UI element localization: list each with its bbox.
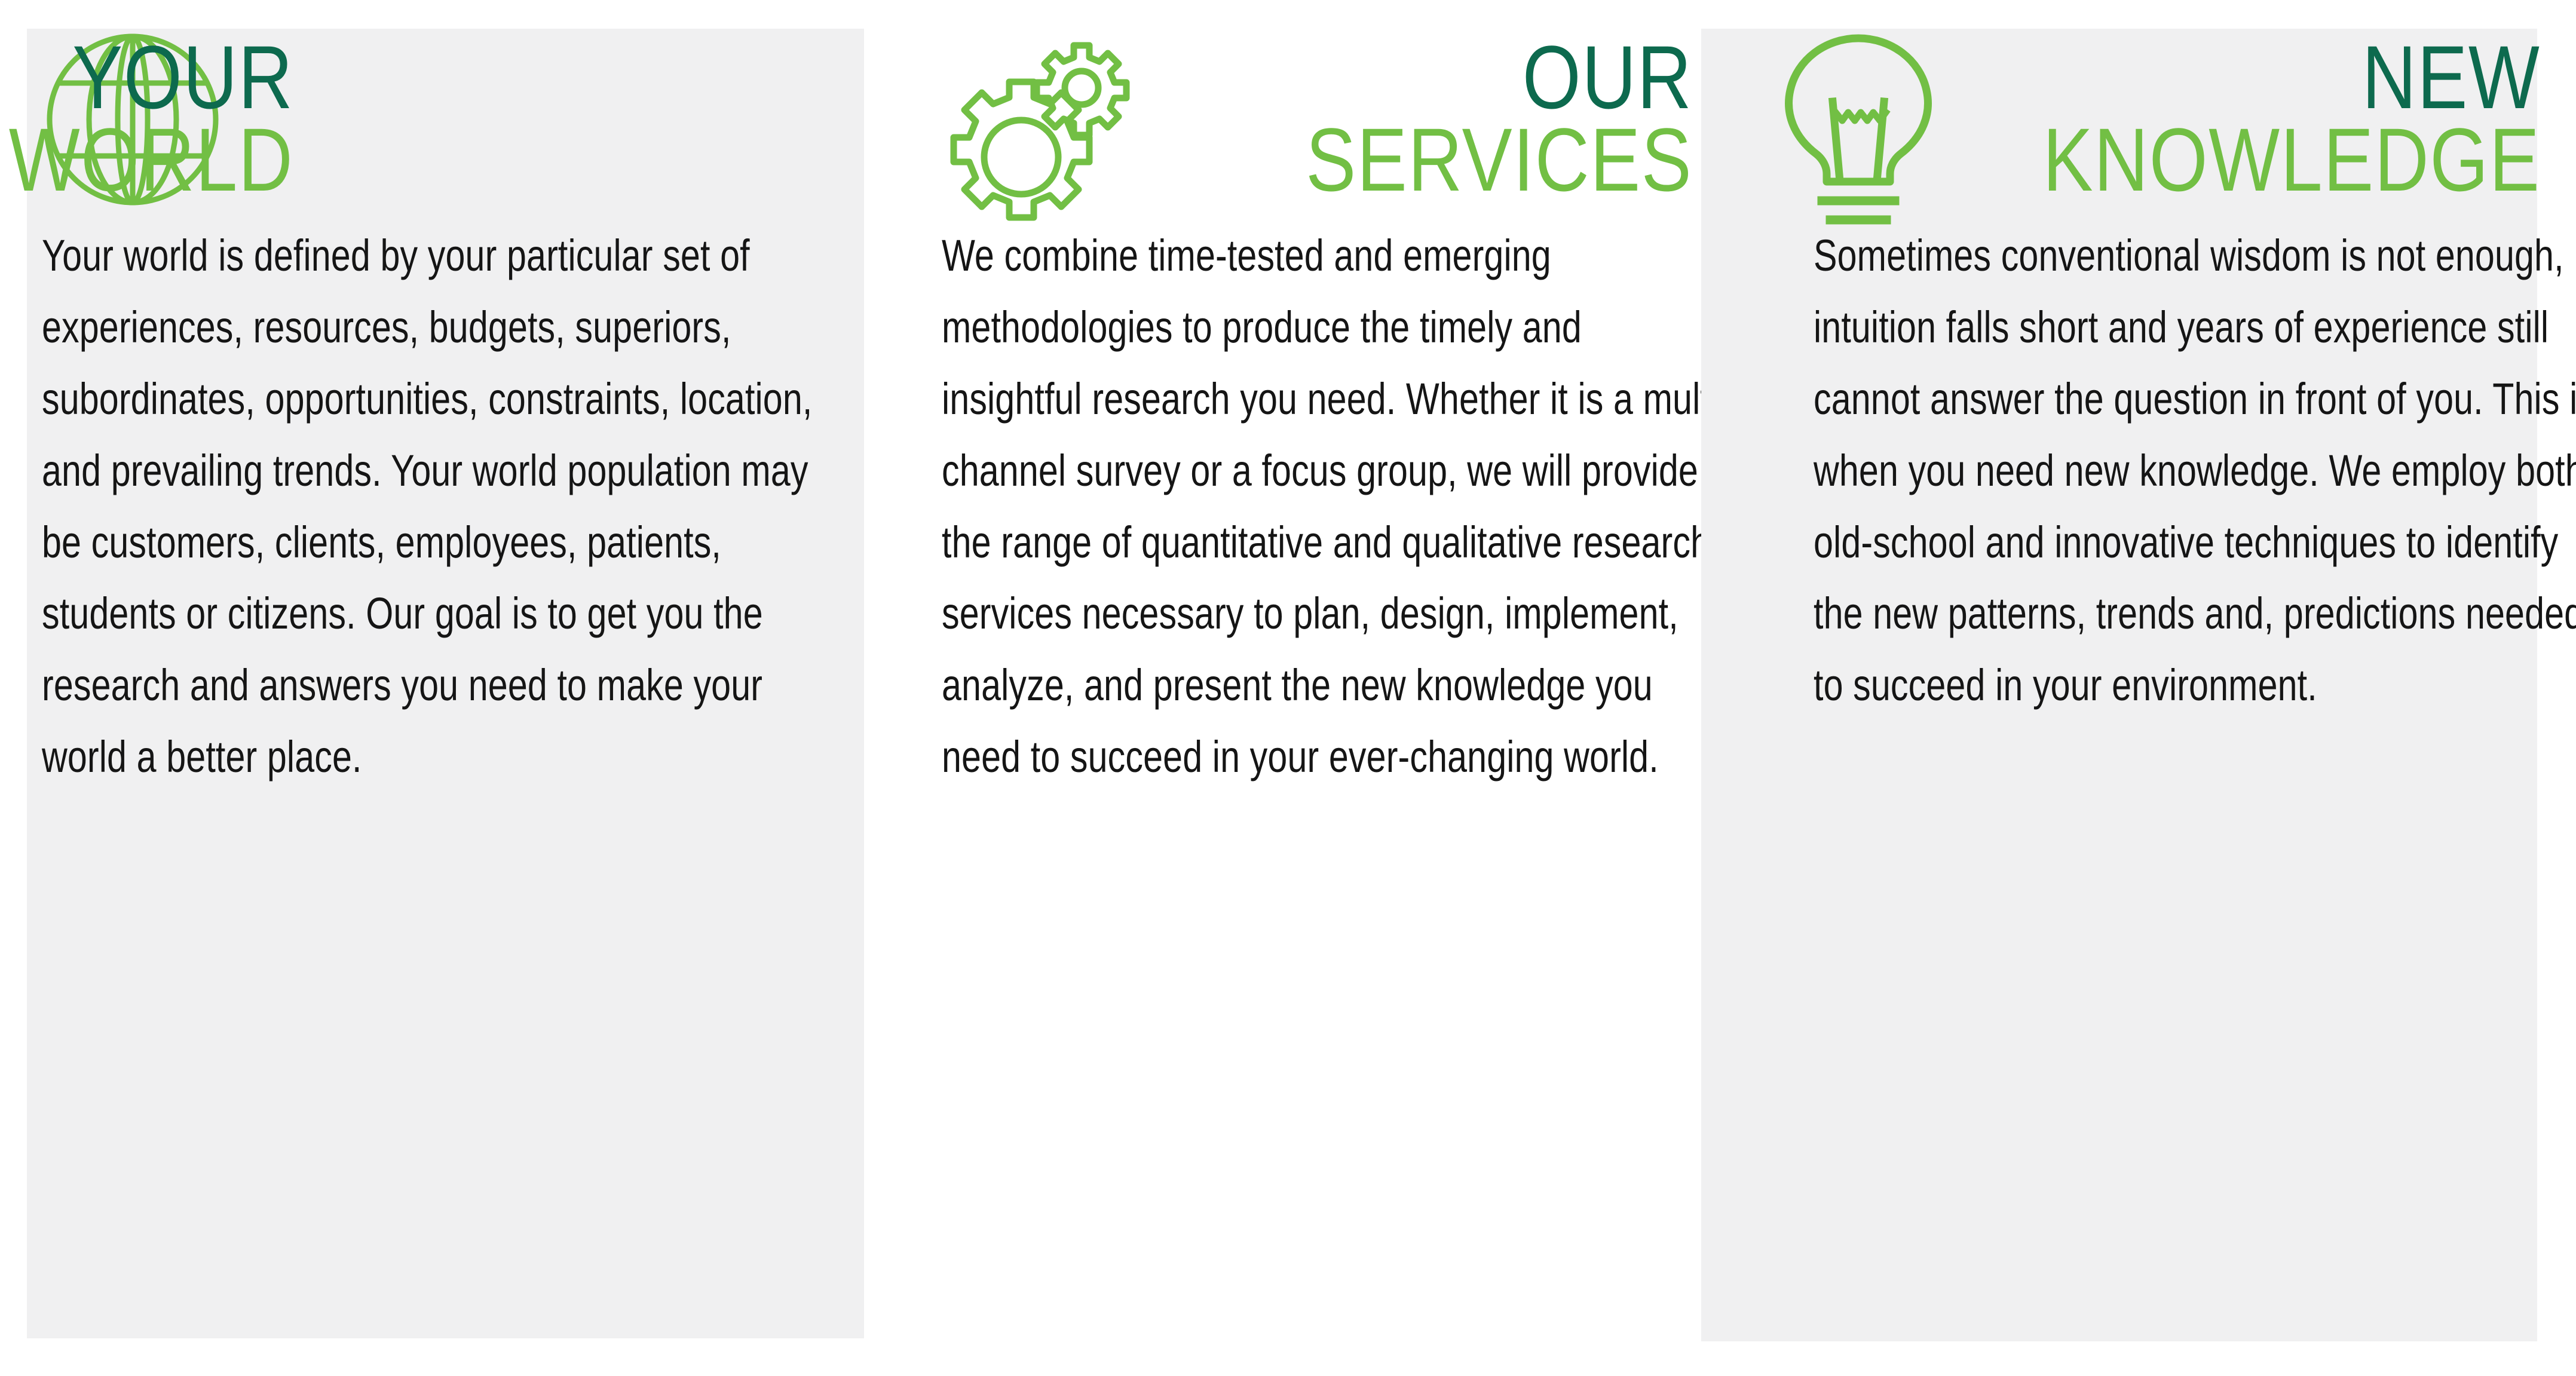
title-line-1: YOUR: [8, 36, 293, 118]
title-line-2: KNOWLEDGE: [2042, 118, 2540, 201]
column-our-services: OUR SERVICES We combine time-tested and …: [864, 29, 1701, 1338]
title-line-1: OUR: [1306, 36, 1692, 118]
body-text-our-services: We combine time-tested and emerging meth…: [942, 220, 1730, 793]
title-line-1: NEW: [2042, 36, 2540, 118]
three-column-feature-layout: YOUR WORLD Your world is defined by your…: [0, 0, 2576, 1376]
column-new-knowledge: NEW KNOWLEDGE Sometimes conventional wis…: [1701, 29, 2537, 1341]
body-text-your-world: Your world is defined by your particular…: [42, 220, 831, 793]
lightbulb-icon: [1780, 29, 1941, 226]
page-title-your-world: YOUR WORLD: [0, 36, 293, 201]
column-your-world: YOUR WORLD Your world is defined by your…: [27, 29, 864, 1338]
gears-icon: [933, 35, 1139, 232]
page-title-new-knowledge: NEW KNOWLEDGE: [1948, 36, 2540, 201]
page-title-our-services: OUR SERVICES: [1232, 36, 1692, 201]
title-line-2: SERVICES: [1306, 118, 1692, 201]
body-text-new-knowledge: Sometimes conventional wisdom is not eno…: [1814, 220, 2576, 721]
title-line-2: WORLD: [8, 118, 293, 201]
